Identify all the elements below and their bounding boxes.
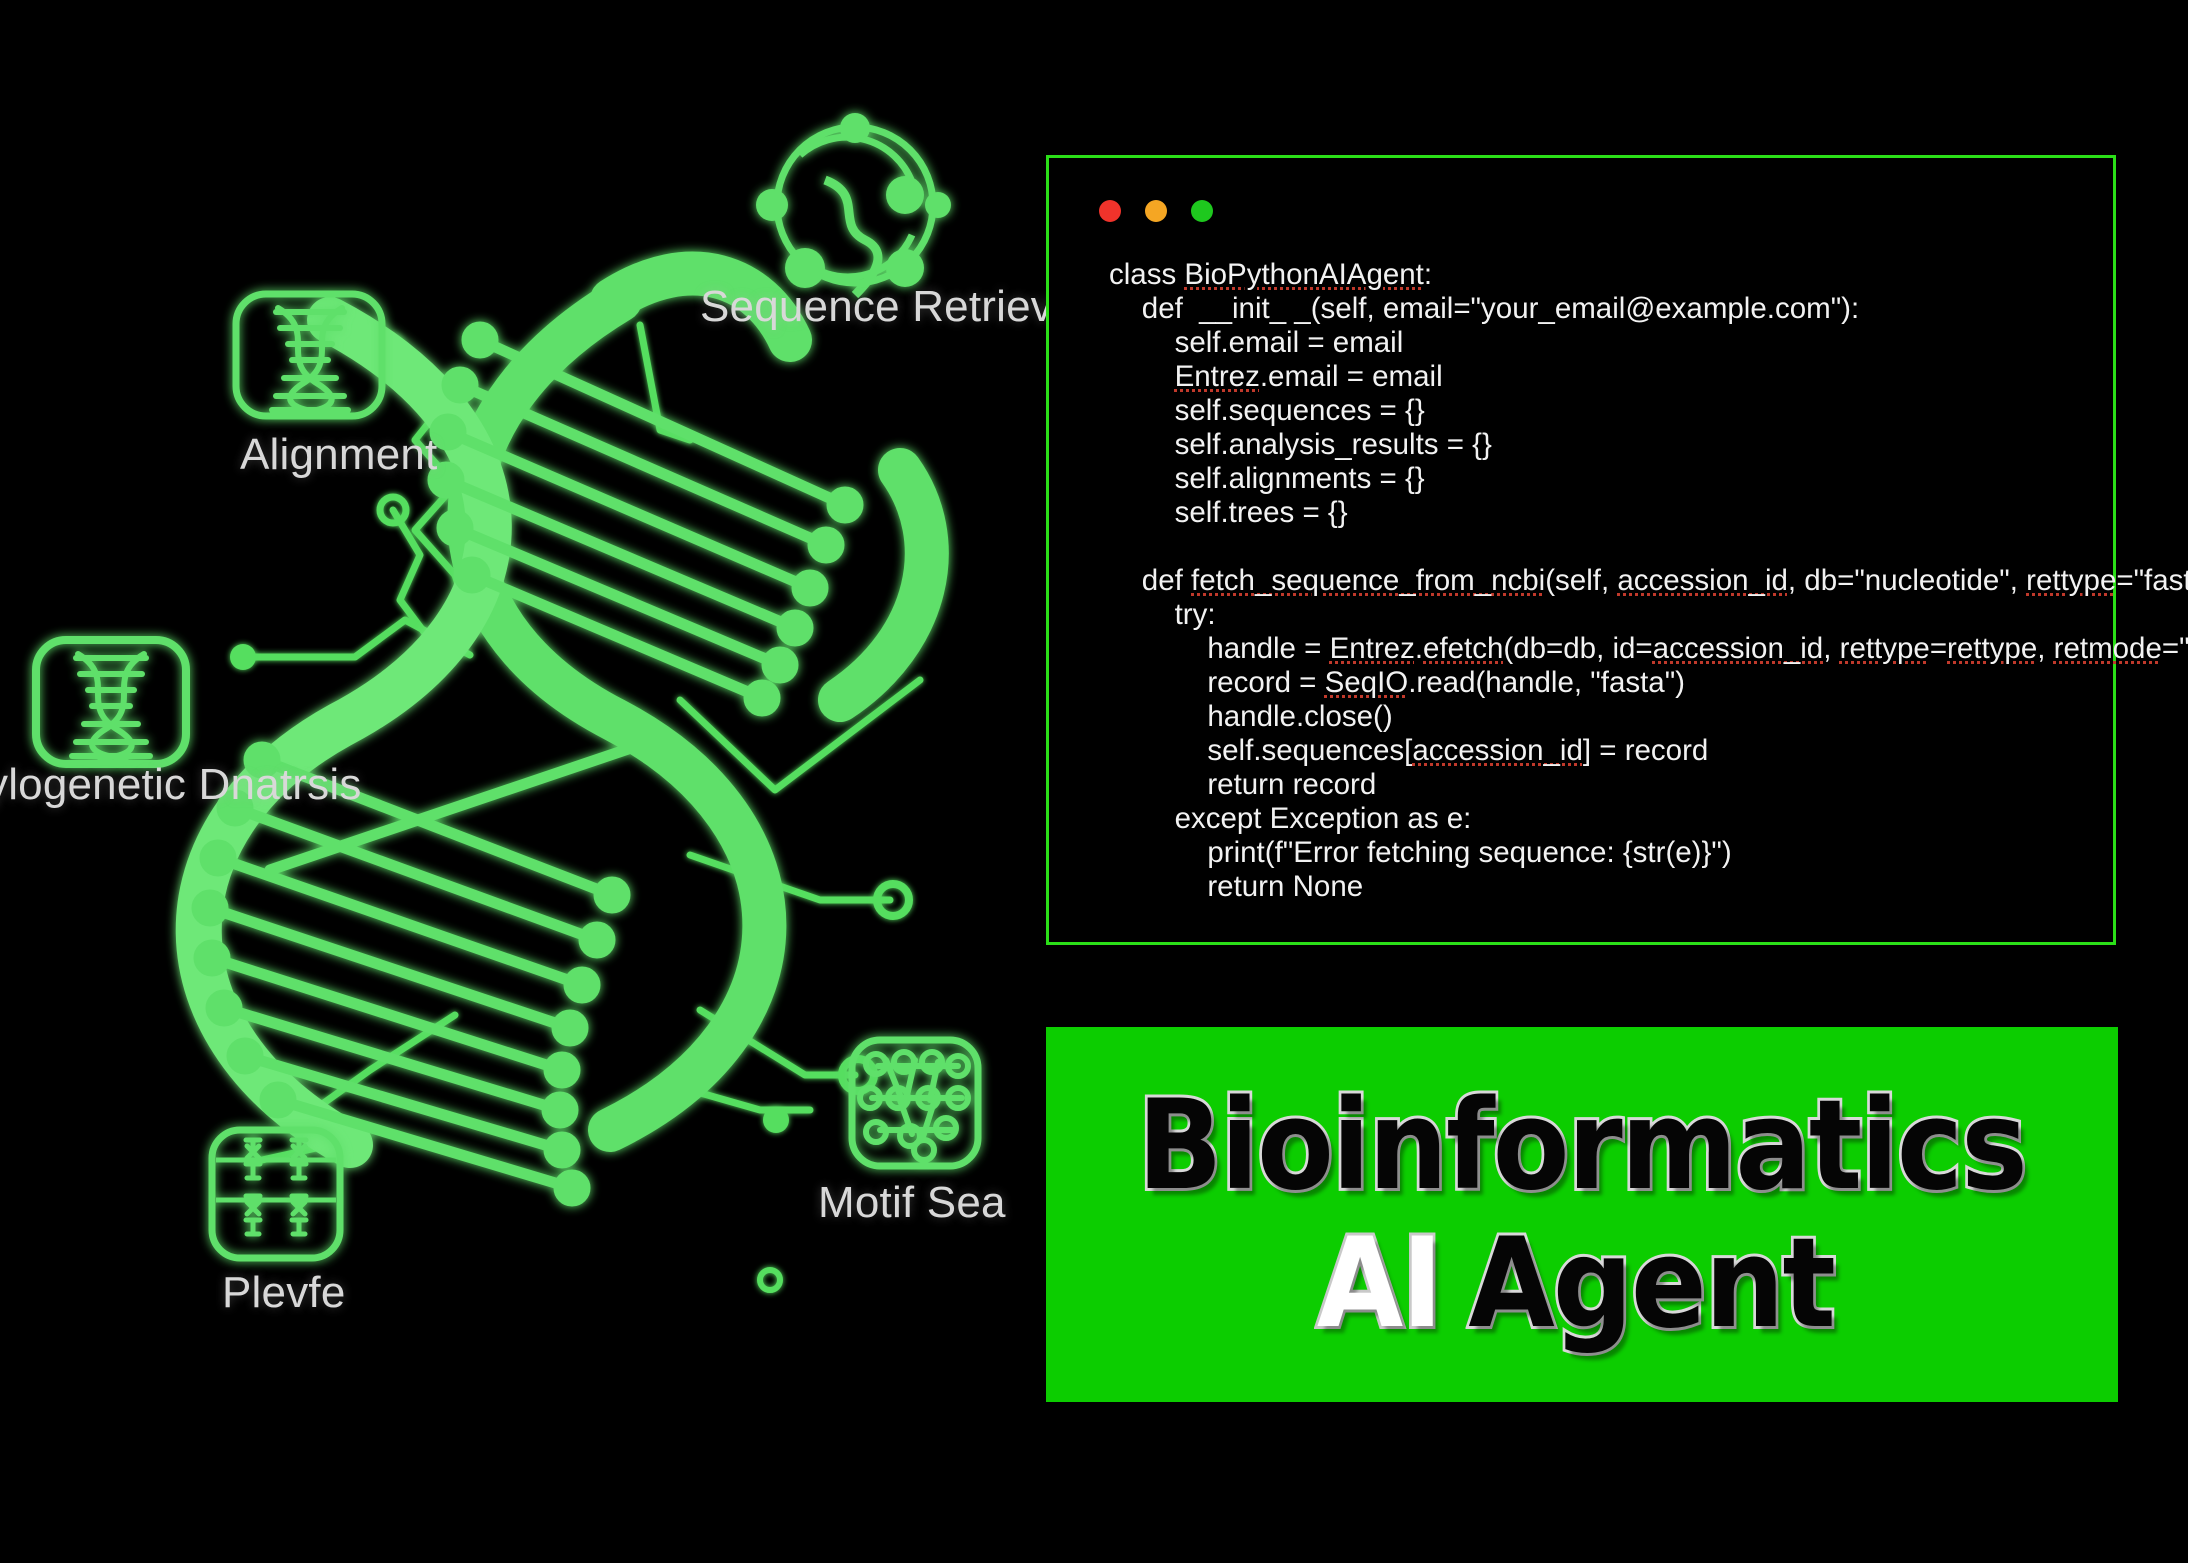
motif-network-icon (852, 1040, 978, 1166)
spellcheck-token: accession_id (1653, 632, 1824, 665)
code-line (1109, 530, 2103, 564)
code-line: Entrez.email = email (1109, 360, 2103, 394)
code-line: handle = Entrez.efetch(db=db, id=accessi… (1109, 632, 2103, 666)
spellcheck-token: accession_id (1617, 564, 1788, 597)
spellcheck-token: efetch (1423, 632, 1503, 665)
sidebar-item-label-sequence-retrieval: Sequence Retriev (700, 282, 1053, 332)
sidebar-item-label-alignment: Alignment (240, 430, 437, 480)
code-line: self.alignments = {} (1109, 462, 2103, 496)
code-line: def __init_ _(self, email="your_email@ex… (1109, 292, 2103, 326)
code-line: try: (1109, 598, 2103, 632)
spellcheck-token: rettype (1840, 632, 1930, 665)
window-traffic-lights (1099, 200, 1213, 222)
code-block[interactable]: class BioPythonAIAgent: def __init_ _(se… (1109, 258, 2103, 904)
code-line: return record (1109, 768, 2103, 802)
spellcheck-token: BioPythonAIAgent (1184, 258, 1423, 291)
spellcheck-token: retmode (2054, 632, 2162, 665)
spellcheck-token: accession_id (1412, 734, 1583, 767)
sidebar-item-label-plevfe: Plevfe (222, 1268, 346, 1318)
code-line: handle.close() (1109, 700, 2103, 734)
code-line: def fetch_sequence_from_ncbi(self, acces… (1109, 564, 2103, 598)
code-line: record = SeqIO.read(handle, "fasta") (1109, 666, 2103, 700)
page-title: Bioinformatics (1138, 1084, 2027, 1208)
code-line: class BioPythonAIAgent: (1109, 258, 2103, 292)
spellcheck-token: rettype (2026, 564, 2116, 597)
page-subtitle-rest: Agent (1468, 1222, 1834, 1346)
page-subtitle: AI Agent (1310, 1222, 1855, 1346)
dna-globe-icon (756, 113, 951, 295)
code-line: self.analysis_results = {} (1109, 428, 2103, 462)
spellcheck-token: rettype (1947, 632, 2037, 665)
code-line: self.sequences[accession_id] = record (1109, 734, 2103, 768)
spellcheck-token: Entrez (1175, 360, 1260, 393)
close-icon[interactable] (1099, 200, 1121, 222)
code-line: self.trees = {} (1109, 496, 2103, 530)
code-line: self.sequences = {} (1109, 394, 2103, 428)
code-line: print(f"Error fetching sequence: {str(e)… (1109, 836, 2103, 870)
spellcheck-token: fetch_sequence_from_ncbi (1191, 564, 1545, 597)
code-line: except Exception as e: (1109, 802, 2103, 836)
spellcheck-token: SeqIO (1325, 666, 1409, 699)
poster-canvas: Sequence Retriev Alignment ylogenetic Dn… (0, 0, 2188, 1563)
code-line: return None (1109, 870, 2103, 904)
dna-helix-icon-phylogenetic (36, 640, 186, 764)
sidebar-item-label-motif-search: Motif Sea (818, 1178, 1006, 1228)
page-subtitle-highlight: AI (1317, 1222, 1441, 1346)
code-line: self.email = email (1109, 326, 2103, 360)
code-editor-window: class BioPythonAIAgent: def __init_ _(se… (1046, 155, 2116, 945)
dna-infographic-svg (0, 0, 1040, 1460)
sidebar-item-label-phylogenetic: ylogenetic Dnatrsis (0, 760, 362, 810)
maximize-icon[interactable] (1191, 200, 1213, 222)
dna-infographic: Sequence Retriev Alignment ylogenetic Dn… (0, 0, 1040, 1460)
title-banner: Bioinformatics AI Agent (1046, 1027, 2118, 1402)
spellcheck-token: Entrez (1330, 632, 1415, 665)
minimize-icon[interactable] (1145, 200, 1167, 222)
